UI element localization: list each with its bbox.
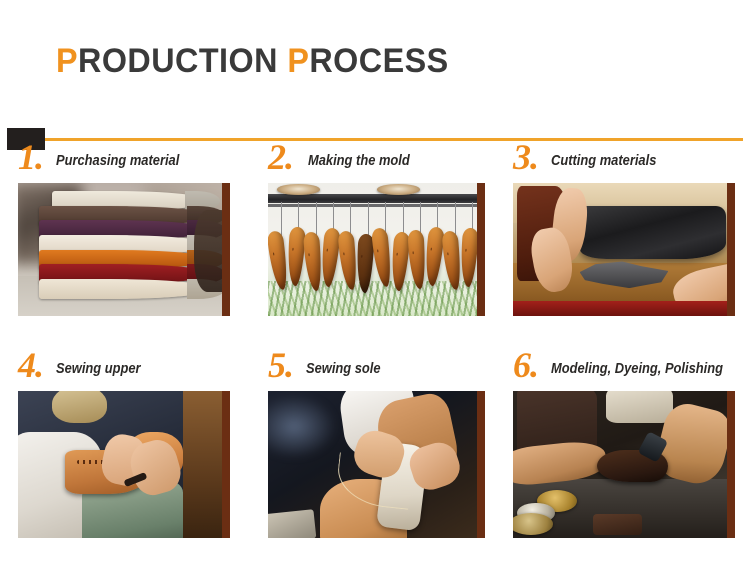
step-label-1: Purchasing material <box>56 153 179 169</box>
photo-edge-bar <box>477 391 485 538</box>
step-label-3: Cutting materials <box>551 153 656 169</box>
photo-edge-bar <box>222 391 230 538</box>
step-image-4 <box>18 391 230 538</box>
step-label-5: Sewing sole <box>306 361 381 377</box>
leather-stack-illustration <box>18 183 230 316</box>
steps-grid: 1. Purchasing material 2. <box>0 0 750 567</box>
sewing-upper-illustration <box>18 391 230 538</box>
sewing-sole-illustration <box>268 391 485 538</box>
photo-edge-bar <box>222 183 230 316</box>
step-number-6: 6. <box>513 347 538 383</box>
photo-edge-bar <box>727 183 735 316</box>
shoe-lasts-illustration <box>268 183 485 316</box>
polishing-illustration <box>513 391 735 538</box>
step-number-1: 1. <box>18 139 43 175</box>
step-label-6: Modeling, Dyeing, Polishing <box>551 361 723 377</box>
step-number-3: 3. <box>513 139 538 175</box>
step-number-2: 2. <box>268 139 293 175</box>
photo-edge-bar <box>477 183 485 316</box>
cutting-leather-illustration <box>513 183 735 316</box>
step-label-4: Sewing upper <box>56 361 141 377</box>
step-image-5 <box>268 391 485 538</box>
step-image-3 <box>513 183 735 316</box>
step-number-4: 4. <box>18 347 43 383</box>
step-number-5: 5. <box>268 347 293 383</box>
production-process-infographic: PRODUCTION PROCESS 1. Purchasing materia… <box>0 0 750 567</box>
photo-edge-bar <box>727 391 735 538</box>
step-image-6 <box>513 391 735 538</box>
step-image-2 <box>268 183 485 316</box>
step-image-1 <box>18 183 230 316</box>
step-label-2: Making the mold <box>308 153 410 169</box>
